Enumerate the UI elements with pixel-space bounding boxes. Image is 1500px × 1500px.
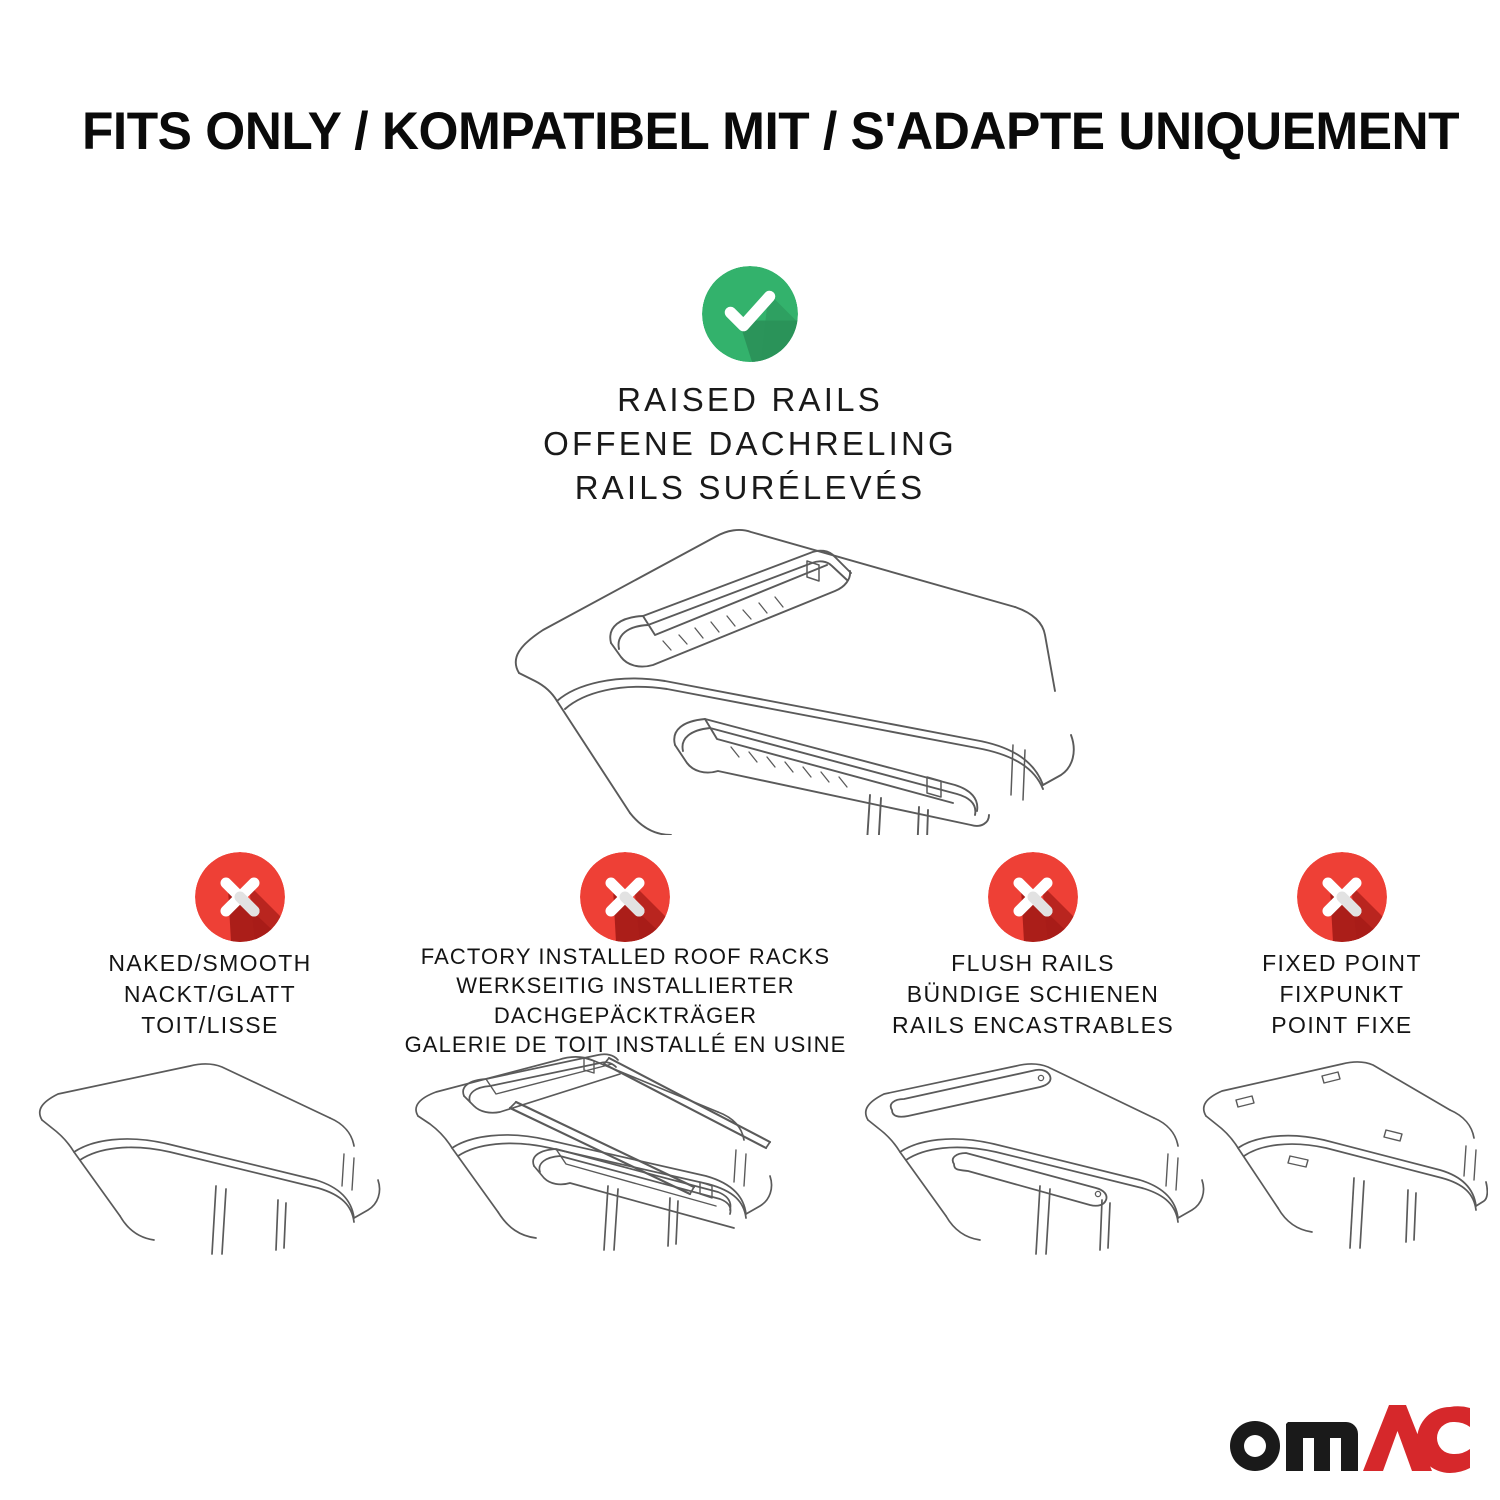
car-roof-raised-rails-illustration — [415, 495, 1095, 835]
label-line-en: NAKED/SMOOTH — [30, 948, 390, 979]
logo-letter-o — [1230, 1421, 1280, 1471]
label-line-en: FLUSH RAILS — [858, 948, 1208, 979]
incompatible-label-factory-racks: FACTORY INSTALLED ROOF RACKS WERKSEITIG … — [398, 942, 853, 1060]
label-line-de-1: WERKSEITIG INSTALLIERTER — [398, 971, 853, 1000]
label-line-de: NACKT/GLATT — [30, 979, 390, 1010]
car-roof-flush-rails-illustration — [858, 1058, 1208, 1258]
label-line-fr: TOIT/LISSE — [30, 1010, 390, 1041]
page-title: FITS ONLY / KOMPATIBEL MIT / S'ADAPTE UN… — [82, 104, 1382, 160]
compatible-label: RAISED RAILS OFFENE DACHRELING RAILS SUR… — [350, 378, 1150, 510]
incompatible-label-naked: NAKED/SMOOTH NACKT/GLATT TOIT/LISSE — [30, 948, 390, 1040]
cross-circle-icon — [988, 852, 1078, 942]
cross-circle-icon — [580, 852, 670, 942]
incompatible-item-factory-racks: FACTORY INSTALLED ROOF RACKS WERKSEITIG … — [398, 840, 853, 1310]
cross-circle-icon — [195, 852, 285, 942]
incompatible-section: NAKED/SMOOTH NACKT/GLATT TOIT/LISSE — [0, 840, 1500, 1310]
label-line-fr: POINT FIXE — [1196, 1010, 1488, 1041]
label-line-en: FIXED POINT — [1196, 948, 1488, 979]
label-line-fr: RAILS ENCASTRABLES — [858, 1010, 1208, 1041]
label-line-de: FIXPUNKT — [1196, 979, 1488, 1010]
incompatible-label-fixed-point: FIXED POINT FIXPUNKT POINT FIXE — [1196, 948, 1488, 1040]
cross-circle-icon — [1297, 852, 1387, 942]
car-roof-naked-illustration — [30, 1058, 390, 1258]
logo-letter-m — [1286, 1422, 1358, 1471]
check-circle-icon — [702, 266, 798, 362]
label-line-en: FACTORY INSTALLED ROOF RACKS — [398, 942, 853, 971]
car-roof-factory-racks-illustration — [398, 1050, 853, 1250]
incompatible-item-naked: NAKED/SMOOTH NACKT/GLATT TOIT/LISSE — [30, 840, 390, 1310]
incompatible-label-flush-rails: FLUSH RAILS BÜNDIGE SCHIENEN RAILS ENCAS… — [858, 948, 1208, 1040]
omac-logo: OMAC — [1222, 1402, 1472, 1474]
compatible-label-line-en: RAISED RAILS — [350, 378, 1150, 422]
label-line-de-2: DACHGEPÄCKTRÄGER — [398, 1001, 853, 1030]
label-line-de: BÜNDIGE SCHIENEN — [858, 979, 1208, 1010]
incompatible-item-flush-rails: FLUSH RAILS BÜNDIGE SCHIENEN RAILS ENCAS… — [858, 840, 1208, 1310]
car-roof-fixed-point-illustration — [1196, 1058, 1488, 1258]
incompatible-item-fixed-point: FIXED POINT FIXPUNKT POINT FIXE — [1196, 840, 1488, 1310]
compatible-label-line-de: OFFENE DACHRELING — [350, 422, 1150, 466]
